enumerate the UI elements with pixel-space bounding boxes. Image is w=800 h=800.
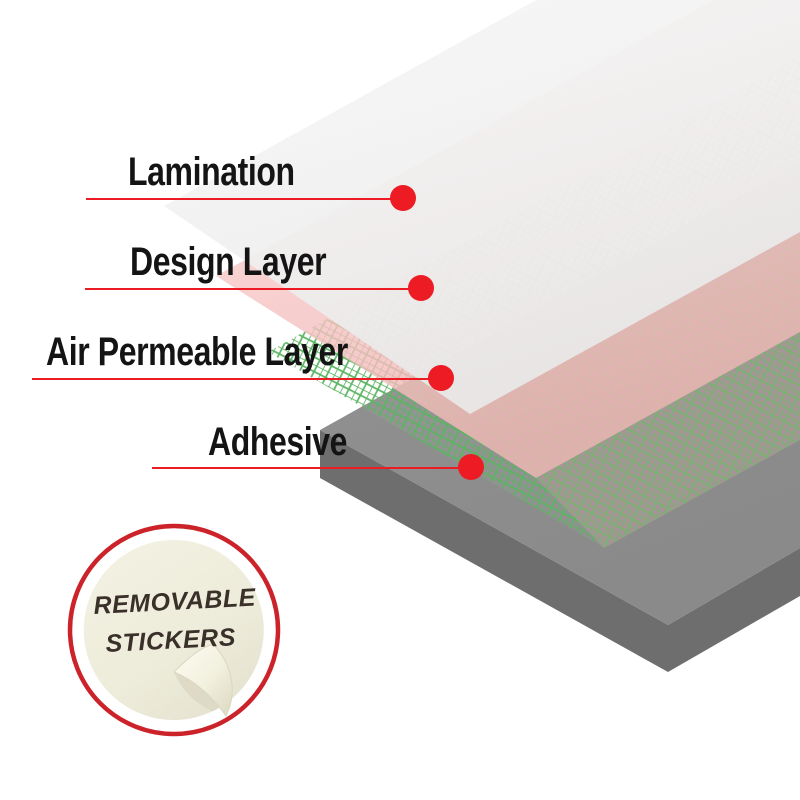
callout-design-layer-label: Design Layer [130,242,326,282]
removable-sticker-badge: REMOVABLE STICKERS [62,518,286,742]
leader-dot-air-permeable [428,365,454,391]
leader-line-design-layer [85,288,421,290]
callout-lamination-label: Lamination [128,152,295,192]
leader-line-lamination [86,198,404,200]
callout-adhesive-label: Adhesive [208,422,347,462]
leader-dot-lamination [390,185,416,211]
sticker-badge-graphic: REMOVABLE STICKERS [62,518,286,742]
leader-dot-adhesive [458,454,484,480]
diagram-canvas: Lamination Design Layer Air Permeable La… [0,0,800,800]
leader-line-air-permeable [32,378,442,380]
callout-air-permeable-label: Air Permeable Layer [46,332,348,372]
leader-line-adhesive [152,467,470,469]
leader-dot-design-layer [408,275,434,301]
